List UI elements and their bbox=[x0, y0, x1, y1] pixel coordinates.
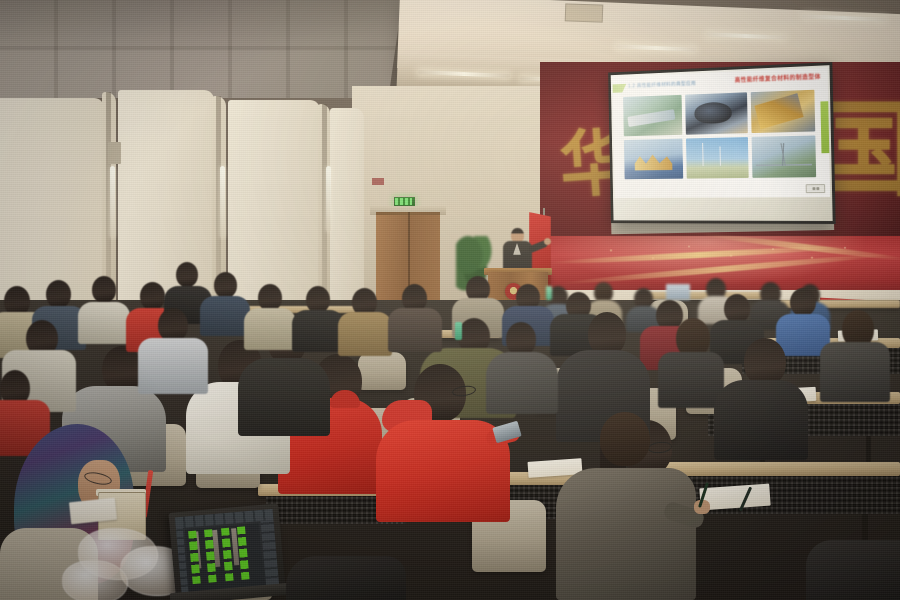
student-head bbox=[724, 294, 750, 323]
student-head bbox=[790, 288, 816, 316]
student-body bbox=[286, 556, 406, 600]
student-head bbox=[744, 338, 786, 386]
student-head bbox=[176, 262, 198, 287]
student-laptop bbox=[666, 284, 690, 300]
student-head bbox=[600, 412, 650, 466]
water-bottle bbox=[455, 322, 462, 340]
lecture-hall-photo: EXIT 华 国 1.2 高性能纤维材 bbox=[0, 0, 900, 600]
student-head bbox=[214, 272, 237, 298]
layout-block-green bbox=[237, 527, 250, 580]
student-body bbox=[292, 310, 344, 352]
student-body bbox=[200, 296, 250, 336]
slide-thumbnail bbox=[623, 95, 683, 136]
acoustic-panel bbox=[330, 108, 364, 306]
student-body bbox=[806, 540, 900, 600]
ceiling-vent bbox=[565, 3, 604, 22]
projection-screen: 1.2 高性能纤维材料的典型应用 高性能纤维复合材料的制造型体 bbox=[608, 62, 836, 224]
editor-canvas[interactable] bbox=[185, 523, 264, 586]
student-body bbox=[556, 468, 696, 600]
student-head bbox=[258, 284, 282, 311]
slide-accent-bar bbox=[820, 101, 829, 153]
student-head bbox=[92, 276, 116, 303]
cad-layout-editor[interactable] bbox=[175, 509, 279, 593]
student-body bbox=[244, 308, 296, 350]
auditorium-chair[interactable] bbox=[358, 352, 406, 390]
presenter-hand bbox=[544, 238, 551, 245]
screen-surface: 1.2 高性能纤维材料的典型应用 高性能纤维复合材料的制造型体 bbox=[611, 65, 833, 221]
student-body bbox=[338, 312, 392, 356]
student-body bbox=[714, 380, 808, 460]
slide-thumbnail bbox=[750, 90, 815, 133]
student-body bbox=[486, 352, 558, 414]
student-body bbox=[388, 308, 442, 352]
slide-thumbnail bbox=[624, 139, 684, 180]
panel-light-strip bbox=[220, 166, 225, 238]
slide-title: 高性能纤维复合材料的制造型体 bbox=[735, 72, 821, 84]
presentation-slide: 1.2 高性能纤维材料的典型应用 高性能纤维复合材料的制造型体 bbox=[612, 67, 830, 198]
student-head bbox=[158, 308, 188, 342]
acoustic-panel bbox=[228, 100, 320, 306]
student-body bbox=[138, 338, 208, 394]
slide-navigation[interactable] bbox=[806, 184, 826, 193]
student-head bbox=[46, 280, 71, 308]
acoustic-panel bbox=[0, 98, 104, 306]
slide-image-grid bbox=[623, 90, 816, 180]
panel-light-strip bbox=[326, 166, 331, 232]
student-head bbox=[306, 286, 330, 313]
panel-access-plate bbox=[108, 142, 121, 164]
student-head bbox=[506, 322, 536, 356]
slide-thumbnail bbox=[685, 92, 747, 134]
acoustic-panel bbox=[118, 90, 214, 306]
plastic-sample-bags bbox=[62, 560, 128, 600]
student-head bbox=[140, 282, 165, 310]
banner-sparkle bbox=[575, 240, 875, 266]
student-body bbox=[658, 352, 724, 408]
slide-nav-dot[interactable] bbox=[816, 187, 819, 190]
student-body bbox=[820, 342, 890, 402]
slide-nav-dot[interactable] bbox=[812, 187, 815, 190]
slide-thumbnail bbox=[686, 137, 748, 179]
water-bottle bbox=[546, 286, 552, 300]
slide-bullet-marker bbox=[613, 84, 627, 93]
student-body bbox=[238, 358, 330, 436]
slide-subtitle: 1.2 高性能纤维材料的典型应用 bbox=[628, 80, 696, 89]
slide-thumbnail bbox=[751, 135, 816, 177]
student-body bbox=[78, 302, 130, 344]
panel-light-strip bbox=[110, 166, 115, 238]
